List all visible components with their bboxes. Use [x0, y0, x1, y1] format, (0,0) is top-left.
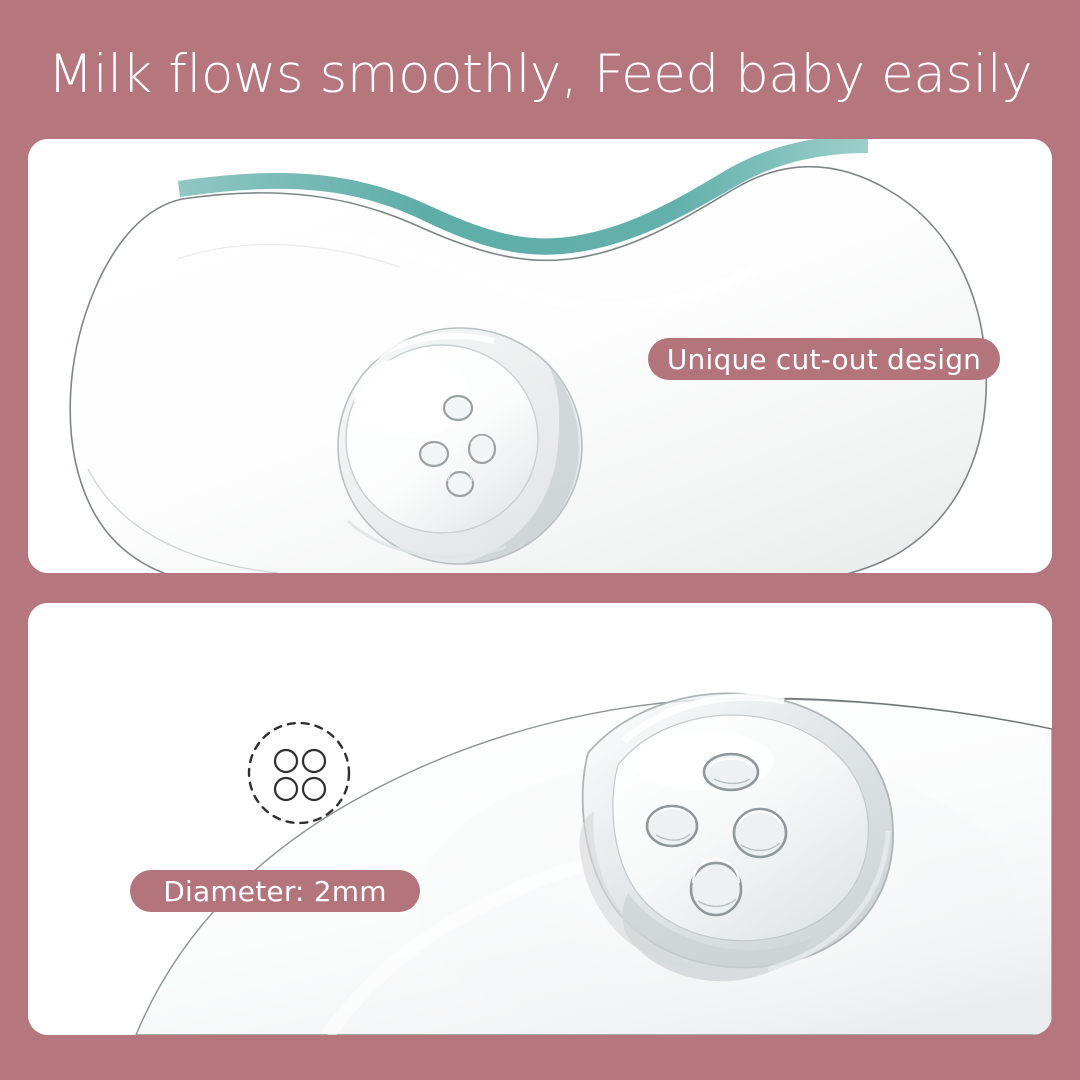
panel-hole-size: Diameter: 2mm [28, 603, 1052, 1035]
hole-diameter-callout-icon [246, 720, 352, 826]
page-title: Milk flows smoothly, Feed baby easily [0, 44, 1080, 106]
badge-cut-out-design: Unique cut-out design [648, 338, 1000, 380]
badge-hole-diameter: Diameter: 2mm [130, 870, 420, 912]
infographic-page: Milk flows smoothly, Feed baby easily [0, 0, 1080, 1080]
product-photo-dome-closeup [28, 603, 1052, 1035]
panel-cut-out: Unique cut-out design [28, 139, 1052, 573]
